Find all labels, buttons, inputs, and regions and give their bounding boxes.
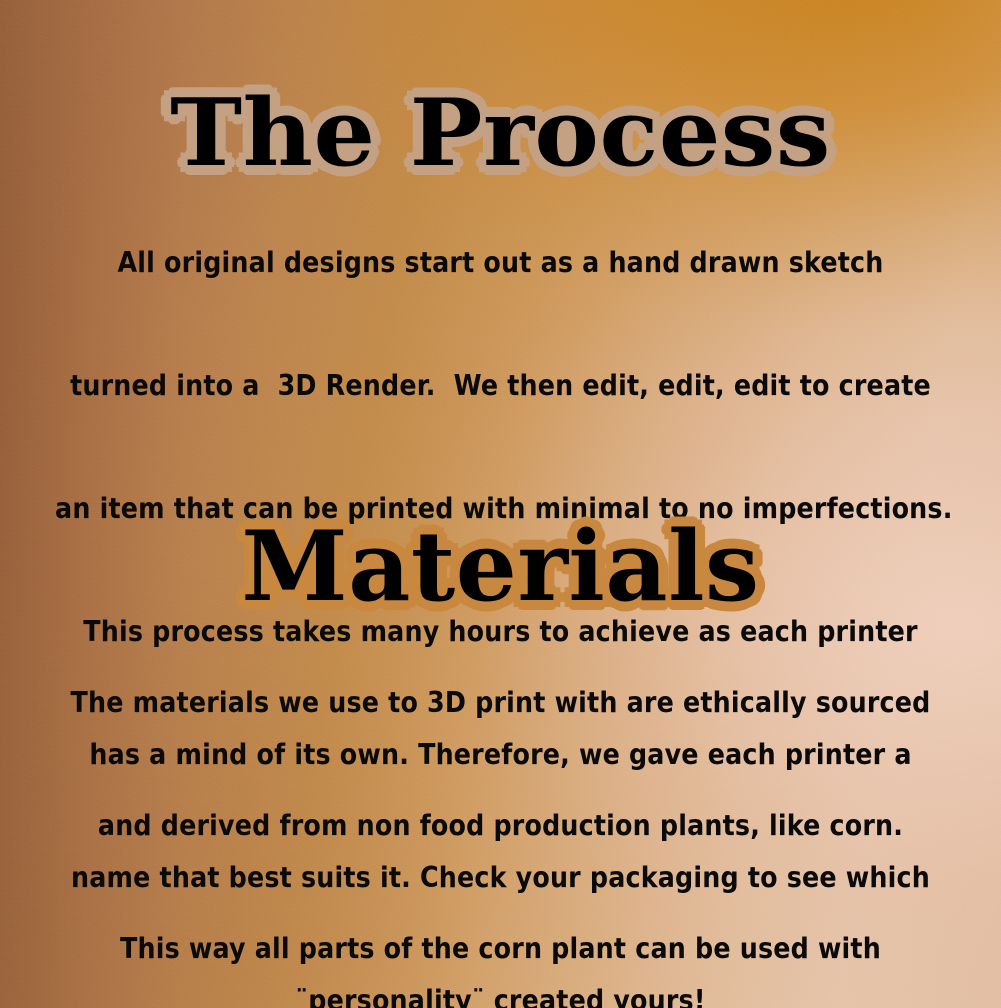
materials-line-3: This way all parts of the corn plant can… xyxy=(55,928,946,969)
materials-line-2: and derived from non food production pla… xyxy=(55,805,946,846)
process-line-2: turned into a 3D Render. We then edit, e… xyxy=(55,365,946,406)
materials-paragraph: The materials we use to 3D print with ar… xyxy=(55,600,946,1008)
poster-canvas: The Process All original designs start o… xyxy=(0,0,1001,1008)
process-line-1: All original designs start out as a hand… xyxy=(55,242,946,283)
materials-line-1: The materials we use to 3D print with ar… xyxy=(55,682,946,723)
poster-content: The Process All original designs start o… xyxy=(0,0,1001,1008)
